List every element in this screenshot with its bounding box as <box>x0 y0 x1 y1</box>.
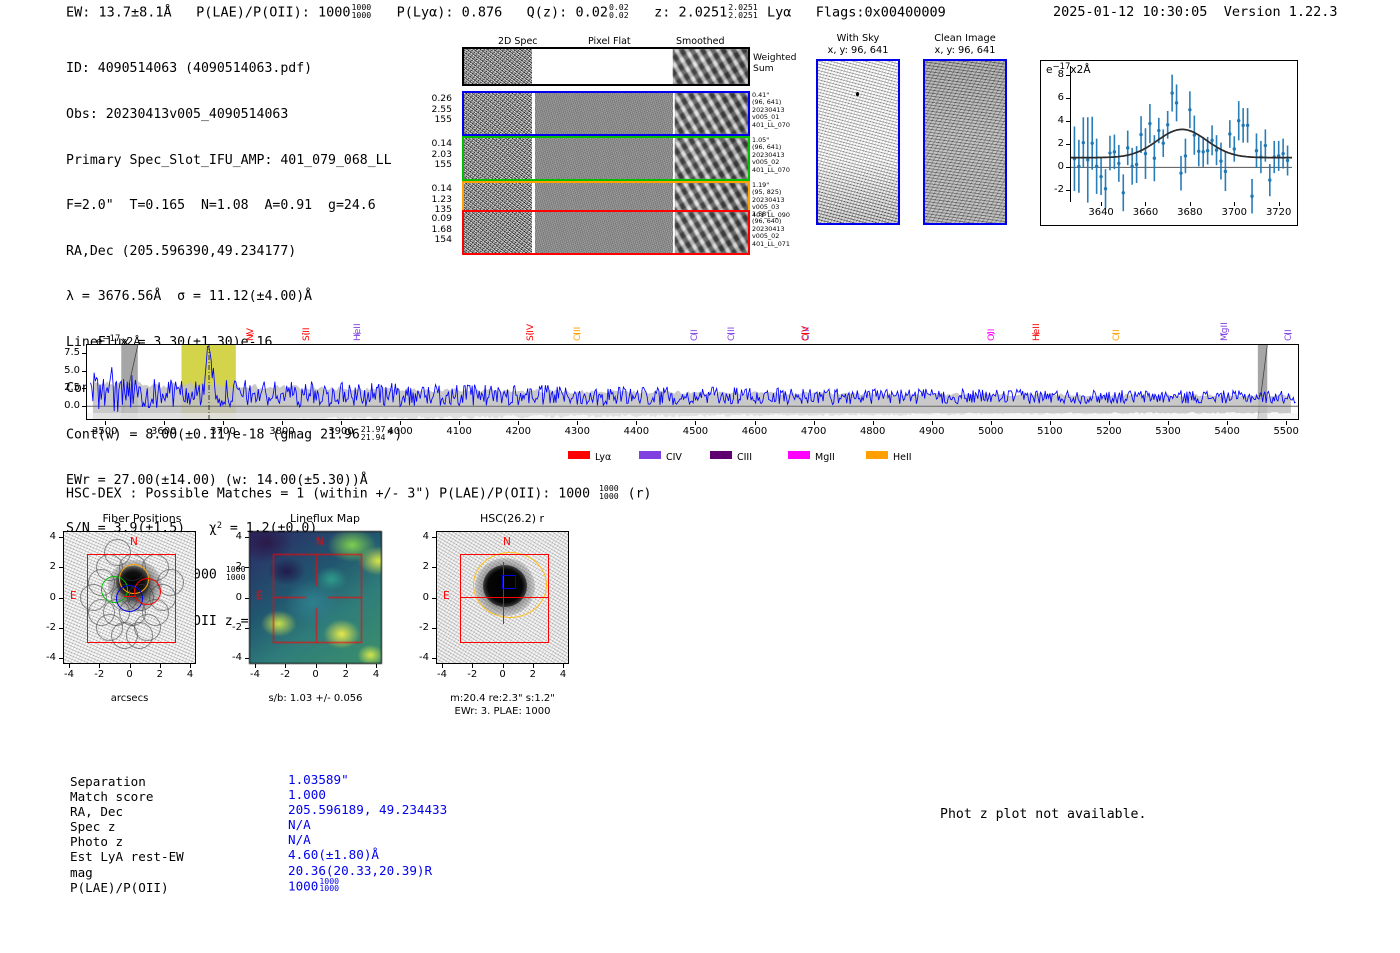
x-tick <box>400 421 401 425</box>
center-crosshair <box>328 597 362 598</box>
header-qz: Q(z): 0.02 <box>527 5 608 21</box>
y-tick-label: 0.0 <box>52 400 80 411</box>
x-tick-label: 5200 <box>1092 426 1126 437</box>
y-tick-label: 6 <box>1044 92 1064 103</box>
y-tick-label: 8 <box>1044 69 1064 80</box>
x-tick-label: 5000 <box>974 426 1008 437</box>
montage-row-left-labels: 0.262.55155 <box>418 94 452 126</box>
x-tick <box>442 664 443 668</box>
x-tick <box>255 664 256 668</box>
cutout-clean-image: Clean Image x, y: 96, 641 <box>915 33 1015 225</box>
emission-line-tick: ( <box>246 332 256 336</box>
x-tick <box>160 664 161 668</box>
header-timestamp-version: 2025-01-12 10:30:05 Version 1.22.3 <box>1053 4 1338 20</box>
montage-title-2dspec: 2D Spec <box>498 36 538 47</box>
montage-row-right-labels: 1.58"(96, 640)20230413v005_02401_LL_071 <box>752 211 790 248</box>
y-tick-label: -4 <box>33 652 56 663</box>
match-table-value: 205.596189, 49.234433 <box>288 802 447 817</box>
aperture-box <box>273 554 362 643</box>
x-tick <box>533 664 534 668</box>
y-tick <box>59 628 63 629</box>
info-seeing-params: F=2.0" T=0.165 N=1.08 A=0.91 g=24.6 <box>66 198 402 213</box>
match-table-values: 1.03589"1.000205.596189, 49.234433N/AN/A… <box>288 772 447 893</box>
montage-row-left-labels: 0.141.23135 <box>418 184 452 216</box>
match-table-value: 100010001000 <box>288 878 447 894</box>
emission-line-label: SiIV <box>526 315 536 341</box>
header-flags: Flags:0x00400009 <box>816 5 946 21</box>
match-table-value: N/A <box>288 817 447 832</box>
legend-label: CIV <box>666 452 682 463</box>
match-table-label: RA, Dec <box>70 804 184 819</box>
x-tick-label: 4700 <box>797 426 831 437</box>
legend-label: Lyα <box>595 452 611 463</box>
header-summary-line: EW: 13.7±8.1Å P(LAE)/P(OII): 10001000100… <box>66 4 946 21</box>
x-tick-label: 4 <box>551 669 575 680</box>
emission-line-tick: ( <box>1032 332 1042 336</box>
y-tick <box>59 658 63 659</box>
y-tick-label: 0 <box>1044 161 1064 172</box>
match-plae-fraction: 10001000 <box>319 878 339 894</box>
fiber-positions-image: N E <box>63 531 196 664</box>
east-label: E <box>70 590 77 602</box>
x-tick-label: 3600 <box>147 426 181 437</box>
montage-weighted-sum-row <box>462 47 750 86</box>
x-tick <box>991 421 992 425</box>
emission-line-tick: ( <box>987 332 997 336</box>
y-tick-label: 4 <box>1044 115 1064 126</box>
x-tick-label: 4600 <box>738 426 772 437</box>
y-tick-label: -2 <box>1044 184 1064 195</box>
x-tick-label: 2 <box>334 669 358 680</box>
cutout-clean-title: Clean Image <box>915 33 1015 45</box>
x-tick-label: 4400 <box>619 426 653 437</box>
emission-line-tick: ( <box>573 332 583 336</box>
east-label: E <box>443 590 450 602</box>
header-qz-fraction: 0.020.02 <box>609 4 629 20</box>
y-tick-label: -2 <box>219 622 242 633</box>
center-crosshair <box>129 591 130 602</box>
x-tick-label: -4 <box>430 669 454 680</box>
cutout-with-sky-title: With Sky <box>812 33 904 45</box>
hscdex-plae-fraction: 10001000 <box>599 485 619 501</box>
y-tick-label: 4 <box>219 531 242 542</box>
x-tick <box>1101 202 1102 206</box>
x-tick-label: -4 <box>57 669 81 680</box>
emission-line-tick: ( <box>353 332 363 336</box>
x-tick <box>755 421 756 425</box>
y-tick <box>59 537 63 538</box>
east-label: E <box>256 590 263 602</box>
montage-row-red <box>462 210 750 255</box>
x-tick-label: -2 <box>87 669 111 680</box>
y-tick-label: 2 <box>33 561 56 572</box>
x-tick-label: 2 <box>148 669 172 680</box>
x-tick <box>1145 202 1146 206</box>
north-label: N <box>503 536 511 548</box>
montage-row-left-labels: 0.142.03155 <box>418 139 452 171</box>
emission-line-label: HeII <box>1032 315 1042 341</box>
x-tick <box>1050 421 1051 425</box>
x-tick <box>563 664 564 668</box>
info-wavelength-sigma: λ = 3676.56Å σ = 11.12(±4.00)Å <box>66 289 402 304</box>
x-tick-label: 0 <box>491 669 515 680</box>
x-tick <box>1227 421 1228 425</box>
x-tick <box>472 664 473 668</box>
x-tick <box>636 421 637 425</box>
x-tick-label: 4 <box>178 669 202 680</box>
emission-line-tick: ( <box>1220 332 1230 336</box>
y-tick <box>245 567 249 568</box>
emission-line-tick: ( <box>1284 332 1294 336</box>
y-tick-label: 4 <box>406 531 429 542</box>
x-tick <box>1234 202 1235 206</box>
y-tick-label: 2.5 <box>52 382 80 393</box>
y-tick-label: -2 <box>406 622 429 633</box>
match-marker-box <box>502 575 516 589</box>
x-tick <box>518 421 519 425</box>
match-table-value: 1.000 <box>288 787 447 802</box>
y-tick-label: -2 <box>33 622 56 633</box>
match-table-value: 20.36(20.33,20.39)R <box>288 863 447 878</box>
x-tick <box>164 421 165 425</box>
y-tick-label: 0 <box>406 592 429 603</box>
x-tick <box>105 421 106 425</box>
y-tick <box>82 371 86 372</box>
x-tick-label: 3700 <box>1220 207 1248 218</box>
x-tick-label: 5300 <box>1151 426 1185 437</box>
montage-title-pixelflat: Pixel Flat <box>588 36 631 47</box>
spectrum-axes <box>86 344 1299 420</box>
y-tick <box>432 537 436 538</box>
cutout-clean-coords: x, y: 96, 641 <box>915 45 1015 57</box>
x-tick <box>814 421 815 425</box>
header-plae-fraction: 10001000 <box>352 4 372 20</box>
x-tick-label: 3660 <box>1131 207 1159 218</box>
x-tick-label: 4000 <box>383 426 417 437</box>
info-id: ID: 4090514063 (4090514063.pdf) <box>66 61 402 76</box>
x-tick-label: -4 <box>243 669 267 680</box>
x-tick-label: 3720 <box>1265 207 1293 218</box>
y-tick <box>82 406 86 407</box>
emission-line-label: CII <box>690 315 700 341</box>
y-tick-label: -4 <box>219 652 242 663</box>
x-tick <box>459 421 460 425</box>
y-tick-label: 0 <box>219 592 242 603</box>
y-tick-label: 0 <box>33 592 56 603</box>
emission-line-tick: ( <box>526 332 536 336</box>
line-fit-data <box>1040 60 1298 226</box>
y-tick <box>82 388 86 389</box>
x-tick-label: 2 <box>521 669 545 680</box>
header-redshift-fraction: 2.02512.0251 <box>728 4 758 20</box>
y-tick <box>245 598 249 599</box>
legend-label: HeII <box>893 452 912 463</box>
x-tick <box>1190 202 1191 206</box>
header-plya: P(Lyα): 0.876 <box>397 5 503 21</box>
info-radec: RA,Dec (205.596390,49.234177) <box>66 244 402 259</box>
emission-line-tick: ( <box>1112 332 1122 336</box>
hscdex-summary: HSC-DEX : Possible Matches = 1 (within +… <box>66 485 651 502</box>
phot-z-message: Phot z plot not available. <box>940 807 1146 822</box>
hsc-r-image: N E <box>436 531 569 664</box>
x-tick-label: 3500 <box>88 426 122 437</box>
legend-swatch <box>788 451 810 459</box>
x-tick-label: 4100 <box>442 426 476 437</box>
emission-line-tick: ( <box>302 332 312 336</box>
x-tick-label: 5500 <box>1269 426 1303 437</box>
x-tick <box>130 664 131 668</box>
emission-line-label: OII <box>987 315 997 341</box>
x-tick-label: 3900 <box>324 426 358 437</box>
x-tick <box>69 664 70 668</box>
x-tick <box>1279 202 1280 206</box>
match-table-label: Spec z <box>70 819 184 834</box>
montage-row-right-labels: 1.05"(96, 641)20230413v005_02401_LL_070 <box>752 137 790 174</box>
match-table-value: 1.03589" <box>288 772 447 787</box>
center-crosshair <box>273 597 306 598</box>
x-tick <box>282 421 283 425</box>
emission-line-label: CIII <box>573 315 583 341</box>
montage-title-smoothed: Smoothed <box>676 36 725 47</box>
legend-swatch <box>639 451 661 459</box>
legend-item: HeII <box>866 451 912 463</box>
y-tick <box>432 658 436 659</box>
emission-line-label: CIII <box>727 315 737 341</box>
emission-line-label: CII <box>1284 315 1294 341</box>
aperture-box <box>460 554 549 643</box>
y-tick <box>59 598 63 599</box>
gmag-fraction: 21.9721.94 <box>361 426 386 442</box>
montage-row-right-labels: 0.41"(96, 641)20230413v005_01401_LL_070 <box>752 92 790 129</box>
legend-label: CIII <box>737 452 752 463</box>
y-tick-label: 2 <box>406 561 429 572</box>
x-tick <box>503 664 504 668</box>
y-tick <box>432 567 436 568</box>
x-tick-label: 5400 <box>1210 426 1244 437</box>
lineflux-map-title: Lineflux Map <box>245 512 405 525</box>
x-tick-label: 4800 <box>856 426 890 437</box>
y-tick-label: 5.0 <box>52 365 80 376</box>
y-tick <box>432 598 436 599</box>
x-tick-label: 0 <box>118 669 142 680</box>
emission-line-label: HeII <box>353 315 363 341</box>
montage-row-blue <box>462 91 750 136</box>
montage-row-left-labels: 0.091.68154 <box>418 214 452 246</box>
y-tick <box>245 628 249 629</box>
cutout-with-sky-image <box>816 59 900 225</box>
source-marker-dot <box>856 92 859 96</box>
x-tick <box>316 664 317 668</box>
x-tick <box>223 421 224 425</box>
match-table-label: mag <box>70 865 184 880</box>
y-tick-label: 4 <box>33 531 56 542</box>
match-table-value: 4.60(±1.80)Å <box>288 847 447 862</box>
x-tick <box>341 421 342 425</box>
x-tick <box>1168 421 1169 425</box>
x-tick <box>346 664 347 668</box>
north-label: N <box>130 536 138 548</box>
fiber-positions-xlabel: arcsecs <box>63 693 196 706</box>
aperture-box <box>87 554 176 643</box>
x-tick <box>376 664 377 668</box>
hsc-r-caption-1: m:20.4 re:2.3" s:1.2" <box>436 693 569 706</box>
center-crosshair <box>503 562 504 624</box>
cutout-with-sky-coords: x, y: 96, 641 <box>812 45 904 57</box>
header-plae: P(LAE)/P(OII): 1000 <box>196 5 350 21</box>
north-label: N <box>316 536 324 548</box>
lineflux-map-caption: s/b: 1.03 +/- 0.056 <box>249 693 382 706</box>
x-tick <box>285 664 286 668</box>
y-tick <box>432 628 436 629</box>
emission-line-tick: ( <box>801 332 811 336</box>
legend-swatch <box>866 451 888 459</box>
legend-label: MgII <box>815 452 835 463</box>
x-tick <box>577 421 578 425</box>
x-tick-label: 4500 <box>678 426 712 437</box>
emission-line-label: CIV <box>801 315 811 341</box>
x-tick <box>1109 421 1110 425</box>
match-table-label: Separation <box>70 774 184 789</box>
header-ew: EW: 13.7±8.1Å <box>66 5 172 21</box>
header-redshift-line: Lyα <box>767 5 791 21</box>
legend-item: CIV <box>639 451 682 463</box>
x-tick-label: 3800 <box>265 426 299 437</box>
match-table-label: Match score <box>70 789 184 804</box>
emission-line-label: NV <box>246 315 256 341</box>
cutout-with-sky: With Sky x, y: 96, 641 <box>812 33 904 225</box>
x-tick-label: 3700 <box>206 426 240 437</box>
x-tick-label: 5100 <box>1033 426 1067 437</box>
y-tick-label: -4 <box>406 652 429 663</box>
y-tick <box>59 567 63 568</box>
emission-line-label: MgII <box>1220 315 1230 341</box>
match-table-label: Photo z <box>70 834 184 849</box>
legend-item: Lyα <box>568 451 611 463</box>
timestamp: 2025-01-12 10:30:05 <box>1053 4 1207 20</box>
header-redshift: z: 2.0251 <box>654 5 727 21</box>
legend-swatch <box>710 451 732 459</box>
center-crosshair <box>316 554 317 586</box>
y-tick <box>82 353 86 354</box>
x-tick <box>873 421 874 425</box>
version: Version 1.22.3 <box>1224 4 1338 20</box>
x-tick-label: 3680 <box>1176 207 1204 218</box>
montage-weighted-sum-label: Weighted Sum <box>753 53 797 74</box>
fiber-positions-title: Fiber Positions <box>62 512 222 525</box>
emission-line-label: CII <box>1112 315 1122 341</box>
montage-row-green <box>462 136 750 181</box>
info-primary-spec-slot: Primary Spec_Slot_IFU_AMP: 401_079_068_L… <box>66 153 402 168</box>
center-crosshair <box>460 597 549 598</box>
x-tick-label: 0 <box>304 669 328 680</box>
legend-item: MgII <box>788 451 835 463</box>
x-tick-label: -2 <box>273 669 297 680</box>
x-tick-label: 3640 <box>1087 207 1115 218</box>
match-table-labels: SeparationMatch scoreRA, DecSpec zPhoto … <box>70 774 184 895</box>
x-tick <box>1286 421 1287 425</box>
emission-line-label: SiII <box>302 315 312 341</box>
match-table-label: Est LyA rest-EW <box>70 849 184 864</box>
x-tick <box>932 421 933 425</box>
y-tick <box>245 537 249 538</box>
y-tick-label: 7.5 <box>52 347 80 358</box>
x-tick <box>190 664 191 668</box>
x-tick <box>695 421 696 425</box>
lineflux-map-image: N E <box>249 531 382 664</box>
y-axis-spine <box>1070 66 1071 202</box>
match-table-label: P(LAE)/P(OII) <box>70 880 184 895</box>
y-tick-label: 2 <box>219 561 242 572</box>
x-tick-label: 4300 <box>560 426 594 437</box>
x-tick-label: -2 <box>460 669 484 680</box>
y-tick <box>245 658 249 659</box>
match-table-value: N/A <box>288 832 447 847</box>
hsc-r-caption-2: EWr: 3. PLAE: 1000 <box>436 706 569 719</box>
x-tick-label: 4200 <box>501 426 535 437</box>
emission-line-tick: ( <box>690 332 700 336</box>
x-tick <box>99 664 100 668</box>
y-tick-label: 2 <box>1044 138 1064 149</box>
legend-swatch <box>568 451 590 459</box>
info-obs: Obs: 20230413v005_4090514063 <box>66 107 402 122</box>
legend-item: CIII <box>710 451 752 463</box>
spectrum-data <box>87 345 1298 419</box>
hsc-r-title: HSC(26.2) r <box>432 512 592 525</box>
center-crosshair <box>316 608 317 643</box>
x-tick-label: 4900 <box>915 426 949 437</box>
emission-line-tick: ( <box>727 332 737 336</box>
x-tick-label: 4 <box>364 669 388 680</box>
cutout-clean-imagedata <box>923 59 1007 225</box>
